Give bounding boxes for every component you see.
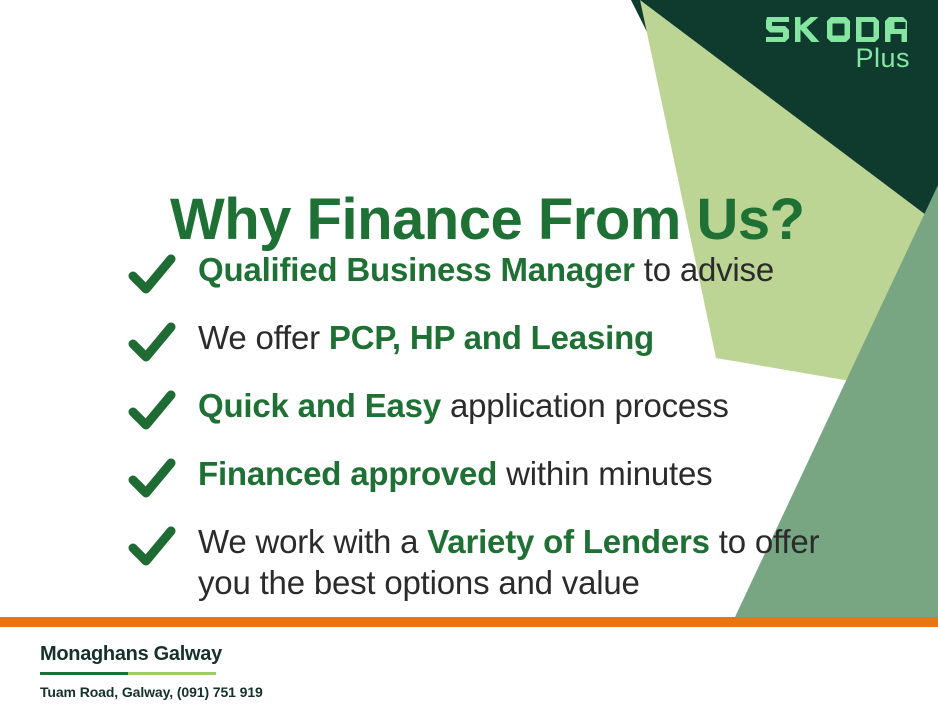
poster-canvas: Plus Why Finance From Us? Qualified Busi…	[0, 0, 938, 704]
list-item-emphasis: Financed approved	[198, 455, 497, 492]
skoda-wordmark-icon	[764, 14, 912, 44]
list-item-plain: within minutes	[497, 455, 712, 492]
list-item-text: Qualified Business Manager to advise	[198, 248, 774, 291]
list-item: Quick and Easy application process	[128, 384, 828, 434]
list-item-emphasis: Variety of Lenders	[427, 523, 710, 560]
dealer-address: Tuam Road, Galway, (091) 751 919	[40, 684, 263, 700]
check-icon	[128, 524, 176, 570]
list-item-plain: We work with a	[198, 523, 427, 560]
dealer-footer: Monaghans Galway Tuam Road, Galway, (091…	[40, 643, 263, 700]
list-item-text: We work with a Variety of Lenders to off…	[198, 520, 828, 604]
list-item-text: Financed approved within minutes	[198, 452, 712, 495]
list-item: Qualified Business Manager to advise	[128, 248, 828, 298]
check-icon	[128, 252, 176, 298]
list-item-plain: application process	[441, 387, 729, 424]
list-item-plain: We offer	[198, 319, 329, 356]
list-item-text: We offer PCP, HP and Leasing	[198, 316, 654, 359]
dealer-name: Monaghans Galway	[40, 643, 222, 670]
list-item-plain: to advise	[635, 251, 774, 288]
skoda-plus-logo: Plus	[764, 14, 912, 72]
check-icon	[128, 320, 176, 366]
list-item-emphasis: Quick and Easy	[198, 387, 441, 424]
list-item-emphasis: Qualified Business Manager	[198, 251, 635, 288]
page-title: Why Finance From Us?	[170, 190, 805, 251]
check-icon	[128, 388, 176, 434]
dealer-name-underline	[40, 672, 216, 675]
list-item: We offer PCP, HP and Leasing	[128, 316, 828, 366]
list-item: Financed approved within minutes	[128, 452, 828, 502]
list-item: We work with a Variety of Lenders to off…	[128, 520, 828, 604]
list-item-text: Quick and Easy application process	[198, 384, 729, 427]
list-item-emphasis: PCP, HP and Leasing	[329, 319, 654, 356]
check-icon	[128, 456, 176, 502]
orange-divider	[0, 617, 938, 627]
skoda-plus-label: Plus	[764, 45, 910, 72]
benefits-list: Qualified Business Manager to advise We …	[128, 248, 828, 604]
